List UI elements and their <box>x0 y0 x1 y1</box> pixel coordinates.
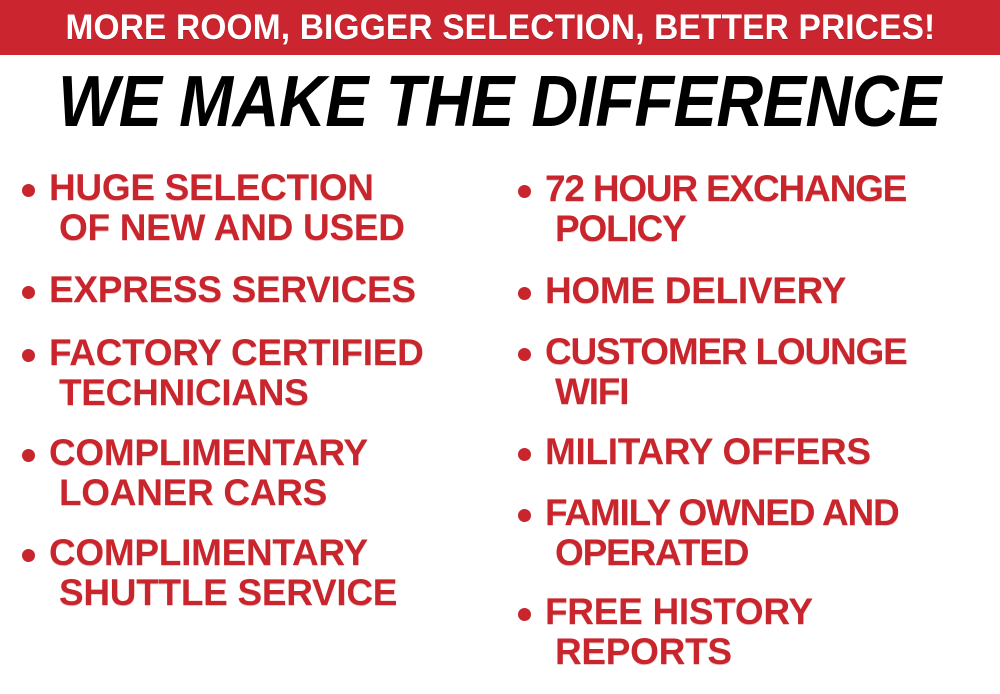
list-item-line1: CUSTOMER LOUNGE <box>545 331 907 372</box>
list-item: 72 HOUR EXCHANGE POLICY <box>518 169 1000 248</box>
list-item-text: 72 HOUR EXCHANGE POLICY <box>545 169 1000 248</box>
list-item-line2: LOANER CARS <box>49 473 500 513</box>
list-item-text: MILITARY OFFERS <box>545 432 1000 472</box>
top-banner: MORE ROOM, BIGGER SELECTION, BETTER PRIC… <box>0 0 1000 55</box>
bullet-dot-icon <box>518 348 531 361</box>
bullet-dot-icon <box>518 185 531 198</box>
bullet-dot-icon <box>22 286 35 299</box>
list-item-line2: SHUTTLE SERVICE <box>49 573 500 613</box>
list-item-text: FAMILY OWNED AND OPERATED <box>545 493 1000 572</box>
list-item-line2: WIFI <box>545 372 1000 412</box>
bullet-dot-icon <box>518 448 531 461</box>
list-item-text: FACTORY CERTIFIED TECHNICIANS <box>49 333 500 412</box>
list-item-line2: POLICY <box>545 209 1000 249</box>
bullet-dot-icon <box>22 184 35 197</box>
top-banner-text: MORE ROOM, BIGGER SELECTION, BETTER PRIC… <box>65 10 935 45</box>
list-item: FACTORY CERTIFIED TECHNICIANS <box>22 333 500 412</box>
page-title: WE MAKE THE DIFFERENCE <box>59 66 942 138</box>
list-item-text: FREE HISTORY REPORTS <box>545 592 1000 671</box>
list-item: CUSTOMER LOUNGE WIFI <box>518 332 1000 411</box>
benefits-left-column: HUGE SELECTION OF NEW AND USED EXPRESS S… <box>6 150 500 694</box>
bullet-dot-icon <box>518 287 531 300</box>
list-item: HUGE SELECTION OF NEW AND USED <box>22 168 500 247</box>
list-item-line1: 72 HOUR EXCHANGE <box>545 168 906 209</box>
list-item-text: HOME DELIVERY <box>545 271 1000 311</box>
list-item-line2: TECHNICIANS <box>49 373 500 413</box>
list-item-text: COMPLIMENTARY SHUTTLE SERVICE <box>49 533 500 612</box>
list-item: COMPLIMENTARY LOANER CARS <box>22 433 500 512</box>
list-item: FAMILY OWNED AND OPERATED <box>518 493 1000 572</box>
list-item: MILITARY OFFERS <box>518 432 1000 472</box>
list-item-line1: COMPLIMENTARY <box>49 432 368 473</box>
list-item-line1: FACTORY CERTIFIED <box>49 332 424 373</box>
list-item-line1: FAMILY OWNED AND <box>545 492 899 533</box>
list-item-line2: OF NEW AND USED <box>49 208 500 248</box>
list-item: COMPLIMENTARY SHUTTLE SERVICE <box>22 533 500 612</box>
list-item-line1: HOME DELIVERY <box>545 270 846 311</box>
headline-container: WE MAKE THE DIFFERENCE <box>0 58 1000 146</box>
bullet-dot-icon <box>22 549 35 562</box>
list-item-text: COMPLIMENTARY LOANER CARS <box>49 433 500 512</box>
list-item-text: CUSTOMER LOUNGE WIFI <box>545 332 1000 411</box>
list-item-line1: COMPLIMENTARY <box>49 532 368 573</box>
list-item-text: HUGE SELECTION OF NEW AND USED <box>49 168 500 247</box>
list-item-line1: FREE HISTORY <box>545 591 813 632</box>
list-item-line2: REPORTS <box>545 632 1000 672</box>
benefits-right-column: 72 HOUR EXCHANGE POLICY HOME DELIVERY CU… <box>500 150 1000 694</box>
advertisement-graphic: MORE ROOM, BIGGER SELECTION, BETTER PRIC… <box>0 0 1000 694</box>
benefits-columns: HUGE SELECTION OF NEW AND USED EXPRESS S… <box>0 150 1000 694</box>
list-item-text: EXPRESS SERVICES <box>49 270 500 310</box>
list-item: HOME DELIVERY <box>518 271 1000 311</box>
bullet-dot-icon <box>518 509 531 522</box>
bullet-dot-icon <box>518 608 531 621</box>
bullet-dot-icon <box>22 349 35 362</box>
list-item-line1: HUGE SELECTION <box>49 167 374 208</box>
list-item-line2: OPERATED <box>545 533 1000 573</box>
list-item-line1: MILITARY OFFERS <box>545 431 871 472</box>
list-item: EXPRESS SERVICES <box>22 270 500 310</box>
bullet-dot-icon <box>22 449 35 462</box>
list-item-line1: EXPRESS SERVICES <box>49 269 416 310</box>
list-item: FREE HISTORY REPORTS <box>518 592 1000 671</box>
